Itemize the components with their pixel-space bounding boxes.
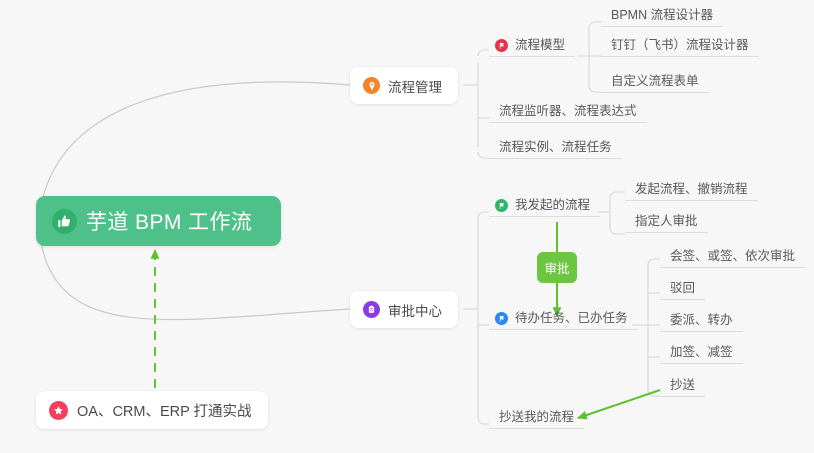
sub-node-my-started-process[interactable]: 我发起的流程 <box>489 198 600 217</box>
sub-node-label: 流程模型 <box>515 38 565 52</box>
leaf-label: 流程监听器、流程表达式 <box>499 104 637 118</box>
leaf-node-process-listener[interactable]: 流程监听器、流程表达式 <box>489 104 647 123</box>
link-ac-child-3 <box>478 418 489 424</box>
mindmap-canvas: 芋道 BPM 工作流 流程管理 流程模型 BPMN 流程设计器 钉钉（飞书）流程… <box>0 0 814 453</box>
leaf-label: 抄送 <box>670 378 695 392</box>
link-ac-child-1 <box>478 212 489 218</box>
leaf-node-countersign[interactable]: 会签、或签、依次审批 <box>660 249 805 268</box>
link-todo-child-1 <box>648 259 660 265</box>
leaf-node-process-instance[interactable]: 流程实例、流程任务 <box>489 140 622 159</box>
link-model-child-3 <box>589 86 601 92</box>
leaf-node-reject[interactable]: 驳回 <box>660 281 705 300</box>
leaf-label: 加签、减签 <box>670 345 733 359</box>
location-pin-icon <box>363 77 380 94</box>
leaf-node-bpmn-designer[interactable]: BPMN 流程设计器 <box>601 8 723 27</box>
clipboard-icon <box>363 301 380 318</box>
branch-node-process-management[interactable]: 流程管理 <box>350 67 458 104</box>
leaf-label: 自定义流程表单 <box>611 74 699 88</box>
leaf-node-add-remove-sign[interactable]: 加签、减签 <box>660 345 743 364</box>
link-started-child-1 <box>610 192 625 198</box>
link-todo-child-5 <box>648 390 660 396</box>
sub-node-process-model[interactable]: 流程模型 <box>489 38 575 57</box>
branch-label: 审批中心 <box>388 300 442 320</box>
leaf-node-assignee-approval[interactable]: 指定人审批 <box>625 214 708 233</box>
leaf-node-delegate-transfer[interactable]: 委派、转办 <box>660 313 743 332</box>
leaf-label: 抄送我的流程 <box>499 410 574 424</box>
star-icon <box>49 401 68 420</box>
leaf-node-cc[interactable]: 抄送 <box>660 378 705 397</box>
sub-node-label: 待办任务、已办任务 <box>515 311 628 325</box>
sub-node-todo-done-tasks[interactable]: 待办任务、已办任务 <box>489 311 638 330</box>
approval-pill: 审批 <box>537 252 577 283</box>
link-root-to-approval-center <box>40 238 350 320</box>
leaf-label: 委派、转办 <box>670 313 733 327</box>
leaf-label: 钉钉（飞书）流程设计器 <box>611 38 749 52</box>
leaf-label: 指定人审批 <box>635 214 698 228</box>
leaf-label: BPMN 流程设计器 <box>611 8 713 22</box>
leaf-label: 流程实例、流程任务 <box>499 140 612 154</box>
flag-icon <box>495 199 508 212</box>
leaf-node-cc-my-process[interactable]: 抄送我的流程 <box>489 410 584 429</box>
link-pm-child-3 <box>478 152 489 158</box>
root-node[interactable]: 芋道 BPM 工作流 <box>36 196 281 246</box>
leaf-node-start-cancel-process[interactable]: 发起流程、撤销流程 <box>625 182 758 201</box>
approval-pill-label: 审批 <box>544 258 569 277</box>
leaf-label: 发起流程、撤销流程 <box>635 182 748 196</box>
integration-note-node[interactable]: OA、CRM、ERP 打通实战 <box>36 391 268 429</box>
link-pm-child-1 <box>478 50 489 56</box>
link-started-child-2 <box>610 228 625 234</box>
leaf-node-dingtalk-designer[interactable]: 钉钉（飞书）流程设计器 <box>601 38 759 57</box>
integration-note-label: OA、CRM、ERP 打通实战 <box>77 400 252 421</box>
link-model-child-1 <box>589 22 601 28</box>
flag-icon <box>495 312 508 325</box>
arrow-cc-to-cc-my-process <box>578 390 660 418</box>
branch-label: 流程管理 <box>388 76 442 96</box>
leaf-node-custom-form[interactable]: 自定义流程表单 <box>601 74 709 93</box>
leaf-label: 会签、或签、依次审批 <box>670 249 795 263</box>
flag-icon <box>495 39 508 52</box>
link-root-to-process-management <box>40 82 350 210</box>
sub-node-label: 我发起的流程 <box>515 198 590 212</box>
thumbs-up-icon <box>52 209 77 234</box>
leaf-label: 驳回 <box>670 281 695 295</box>
branch-node-approval-center[interactable]: 审批中心 <box>350 291 458 328</box>
root-label: 芋道 BPM 工作流 <box>86 206 252 236</box>
